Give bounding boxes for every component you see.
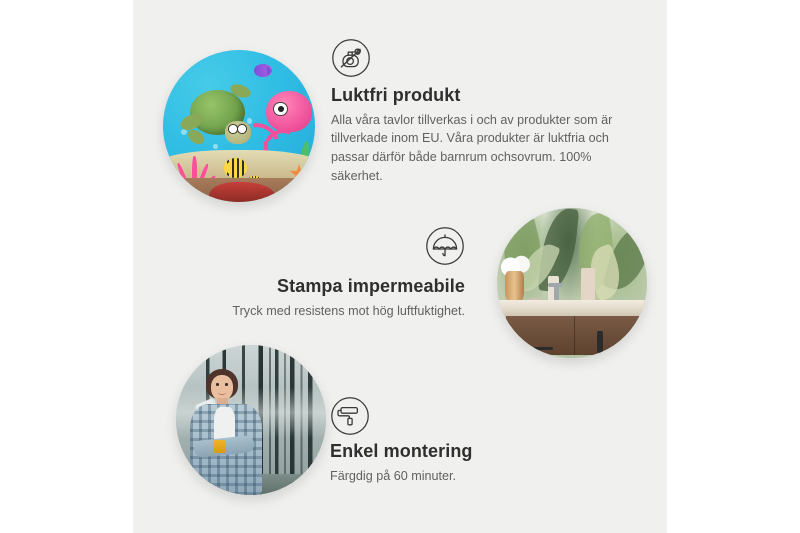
feature-title: Enkel montering	[330, 440, 620, 463]
feature-body: Alla våra tavlor tillverkas i och av pro…	[331, 111, 619, 187]
underwater-artwork	[163, 50, 315, 202]
umbrella-icon	[425, 226, 465, 266]
forest-wallpaper-artwork	[176, 345, 326, 495]
feature-block-odorless: Luktfri produkt Alla våra tavlor tillver…	[331, 38, 631, 186]
feature-title: Luktfri produkt	[331, 84, 631, 107]
feature-body: Färgdig på 60 minuter.	[330, 467, 620, 486]
underwater-kids-scene-image	[163, 50, 315, 202]
product-feature-infographic: Luktfri produkt Alla våra tavlor tillver…	[0, 0, 800, 533]
feature-block-easy-mounting: Enkel montering Färgdig på 60 minuter.	[330, 396, 620, 485]
paint-roller-icon	[330, 396, 370, 436]
bathroom-botanical-wallpaper-image	[497, 208, 647, 358]
bathroom-artwork	[497, 208, 647, 358]
feature-body: Tryck med resistens mot hög luftfuktighe…	[185, 302, 465, 321]
feature-title: Stampa impermeabile	[185, 275, 465, 298]
no-spray-bottle-icon	[331, 38, 371, 78]
feature-block-waterproof: Stampa impermeabile Tryck med resistens …	[185, 226, 465, 320]
woman-with-paint-roller-forest-image	[176, 345, 326, 495]
